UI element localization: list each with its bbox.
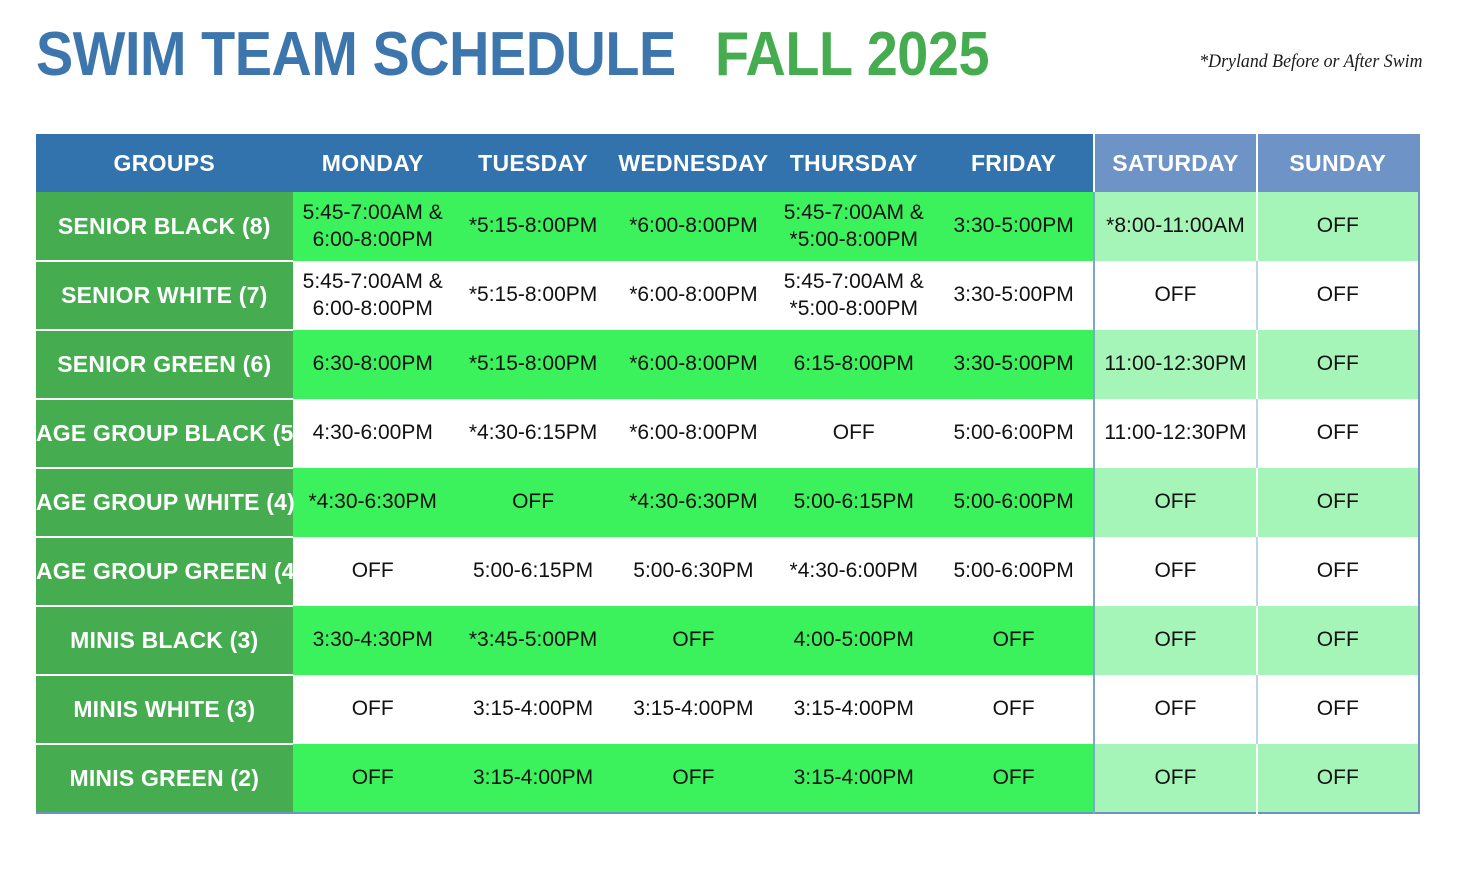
schedule-cell-wednesday: *6:00-8:00PM [613,399,773,468]
table-row: MINIS BLACK (3)3:30-4:30PM*3:45-5:00PMOF… [36,606,1419,675]
table-body: SENIOR BLACK (8)5:45-7:00AM &6:00-8:00PM… [36,192,1419,813]
table-row: MINIS WHITE (3)OFF3:15-4:00PM3:15-4:00PM… [36,675,1419,744]
cell-line: OFF [613,765,773,791]
group-label-cell: AGE GROUP WHITE (4) [36,468,293,537]
cell-line: OFF [1258,351,1418,377]
schedule-cell-friday: 5:00-6:00PM [934,537,1094,606]
cell-line: *4:30-6:30PM [613,489,773,515]
schedule-cell-wednesday: *4:30-6:30PM [613,468,773,537]
cell-line: 3:30-5:00PM [934,282,1093,308]
schedule-cell-saturday: OFF [1094,606,1256,675]
table-row: AGE GROUP GREEN (4)OFF5:00-6:15PM5:00-6:… [36,537,1419,606]
schedule-cell-friday: OFF [934,744,1094,813]
column-header-wednesday: WEDNESDAY [613,134,773,192]
cell-line: OFF [934,765,1093,791]
group-label-cell: MINIS WHITE (3) [36,675,293,744]
table-header: GROUPS MONDAY TUESDAY WEDNESDAY THURSDAY… [36,134,1419,192]
schedule-cell-thursday: 5:45-7:00AM &*5:00-8:00PM [774,261,934,330]
cell-line: 5:00-6:15PM [453,558,613,584]
column-header-sunday: SUNDAY [1257,134,1419,192]
schedule-cell-monday: *4:30-6:30PM [293,468,453,537]
schedule-cell-wednesday: *6:00-8:00PM [613,192,773,261]
schedule-cell-sunday: OFF [1257,606,1419,675]
dryland-note: *Dryland Before or After Swim [1199,51,1422,73]
cell-line: OFF [934,696,1093,722]
schedule-cell-tuesday: *4:30-6:15PM [453,399,613,468]
cell-line: *6:00-8:00PM [613,351,773,377]
cell-line: *5:15-8:00PM [453,282,613,308]
schedule-cell-friday: 3:30-5:00PM [934,330,1094,399]
cell-line: OFF [934,627,1093,653]
schedule-table: GROUPS MONDAY TUESDAY WEDNESDAY THURSDAY… [36,134,1420,814]
cell-line: OFF [1258,282,1418,308]
schedule-cell-wednesday: 3:15-4:00PM [613,675,773,744]
schedule-cell-monday: 5:45-7:00AM &6:00-8:00PM [293,261,453,330]
cell-line: OFF [1258,696,1418,722]
group-label-cell: AGE GROUP BLACK (5) [36,399,293,468]
column-header-thursday: THURSDAY [774,134,934,192]
schedule-cell-monday: 6:30-8:00PM [293,330,453,399]
table-row: SENIOR GREEN (6)6:30-8:00PM*5:15-8:00PM*… [36,330,1419,399]
cell-line: 11:00-12:30PM [1095,420,1255,446]
cell-line: OFF [1258,765,1418,791]
schedule-cell-thursday: 3:15-4:00PM [774,744,934,813]
cell-line: OFF [1095,282,1255,308]
schedule-cell-wednesday: OFF [613,606,773,675]
schedule-cell-tuesday: 3:15-4:00PM [453,675,613,744]
cell-line: OFF [1258,558,1418,584]
cell-line: 6:30-8:00PM [293,351,453,377]
schedule-cell-monday: OFF [293,675,453,744]
cell-line: OFF [1095,765,1255,791]
schedule-cell-tuesday: 3:15-4:00PM [453,744,613,813]
schedule-cell-saturday: OFF [1094,261,1256,330]
group-label-cell: AGE GROUP GREEN (4) [36,537,293,606]
schedule-cell-thursday: 5:45-7:00AM &*5:00-8:00PM [774,192,934,261]
schedule-cell-sunday: OFF [1257,330,1419,399]
schedule-cell-sunday: OFF [1257,744,1419,813]
group-label-cell: MINIS BLACK (3) [36,606,293,675]
cell-line: 3:15-4:00PM [774,765,934,791]
cell-line: *5:15-8:00PM [453,213,613,239]
schedule-cell-monday: 3:30-4:30PM [293,606,453,675]
cell-line: OFF [1095,489,1255,515]
schedule-cell-saturday: OFF [1094,537,1256,606]
schedule-cell-thursday: *4:30-6:00PM [774,537,934,606]
schedule-cell-monday: OFF [293,744,453,813]
column-header-monday: MONDAY [293,134,453,192]
cell-line: 3:30-5:00PM [934,351,1093,377]
cell-line: OFF [293,696,453,722]
cell-line: OFF [453,489,613,515]
schedule-cell-sunday: OFF [1257,537,1419,606]
column-header-groups: GROUPS [36,134,293,192]
cell-line: 11:00-12:30PM [1095,351,1255,377]
cell-line: OFF [1095,558,1255,584]
page-title: SWIM TEAM SCHEDULE [36,24,676,86]
cell-line: 4:00-5:00PM [774,627,934,653]
schedule-cell-sunday: OFF [1257,399,1419,468]
cell-line: 5:00-6:00PM [934,420,1093,446]
schedule-cell-monday: OFF [293,537,453,606]
cell-line: *6:00-8:00PM [613,420,773,446]
cell-line: 5:00-6:00PM [934,558,1093,584]
cell-line: 3:30-5:00PM [934,213,1093,239]
schedule-cell-sunday: OFF [1257,468,1419,537]
schedule-cell-saturday: *8:00-11:00AM [1094,192,1256,261]
schedule-cell-tuesday: *3:45-5:00PM [453,606,613,675]
cell-line: 3:15-4:00PM [453,765,613,791]
page-header: SWIM TEAM SCHEDULE FALL 2025 *Dryland Be… [36,24,1422,116]
schedule-cell-tuesday: *5:15-8:00PM [453,261,613,330]
group-label-cell: SENIOR WHITE (7) [36,261,293,330]
cell-line: OFF [293,765,453,791]
schedule-cell-saturday: OFF [1094,675,1256,744]
cell-line: *6:00-8:00PM [613,213,773,239]
cell-line: OFF [774,420,934,446]
cell-line: 5:00-6:00PM [934,489,1093,515]
schedule-cell-tuesday: OFF [453,468,613,537]
schedule-cell-saturday: OFF [1094,468,1256,537]
cell-line: 3:15-4:00PM [774,696,934,722]
schedule-cell-friday: OFF [934,675,1094,744]
header-row: GROUPS MONDAY TUESDAY WEDNESDAY THURSDAY… [36,134,1419,192]
schedule-cell-saturday: OFF [1094,744,1256,813]
page-title-season: FALL 2025 [715,24,989,86]
schedule-cell-thursday: 5:00-6:15PM [774,468,934,537]
table-row: SENIOR BLACK (8)5:45-7:00AM &6:00-8:00PM… [36,192,1419,261]
cell-line: OFF [1258,213,1418,239]
cell-line: 5:45-7:00AM & [293,269,453,295]
cell-line: *5:00-8:00PM [774,227,934,253]
cell-line: 5:45-7:00AM & [774,200,934,226]
cell-line: *6:00-8:00PM [613,282,773,308]
schedule-cell-saturday: 11:00-12:30PM [1094,330,1256,399]
cell-line: OFF [1258,627,1418,653]
table-row: AGE GROUP WHITE (4)*4:30-6:30PMOFF*4:30-… [36,468,1419,537]
cell-line: 3:30-4:30PM [293,627,453,653]
cell-line: 3:15-4:00PM [613,696,773,722]
cell-line: 3:15-4:00PM [453,696,613,722]
schedule-cell-wednesday: *6:00-8:00PM [613,330,773,399]
group-label-cell: SENIOR BLACK (8) [36,192,293,261]
cell-line: *3:45-5:00PM [453,627,613,653]
cell-line: 5:00-6:30PM [613,558,773,584]
schedule-cell-thursday: 6:15-8:00PM [774,330,934,399]
schedule-cell-sunday: OFF [1257,192,1419,261]
cell-line: *4:30-6:15PM [453,420,613,446]
cell-line: OFF [293,558,453,584]
schedule-cell-tuesday: *5:15-8:00PM [453,192,613,261]
schedule-cell-friday: 3:30-5:00PM [934,261,1094,330]
schedule-cell-monday: 5:45-7:00AM &6:00-8:00PM [293,192,453,261]
cell-line: *4:30-6:30PM [293,489,453,515]
group-label-cell: SENIOR GREEN (6) [36,330,293,399]
table-row: MINIS GREEN (2)OFF3:15-4:00PMOFF3:15-4:0… [36,744,1419,813]
column-header-tuesday: TUESDAY [453,134,613,192]
schedule-page: SWIM TEAM SCHEDULE FALL 2025 *Dryland Be… [0,0,1458,888]
cell-line: *4:30-6:00PM [774,558,934,584]
cell-line: 5:45-7:00AM & [774,269,934,295]
schedule-cell-wednesday: OFF [613,744,773,813]
schedule-cell-saturday: 11:00-12:30PM [1094,399,1256,468]
schedule-cell-tuesday: 5:00-6:15PM [453,537,613,606]
cell-line: 6:00-8:00PM [293,296,453,322]
cell-line: OFF [1095,627,1255,653]
group-label-cell: MINIS GREEN (2) [36,744,293,813]
schedule-cell-sunday: OFF [1257,675,1419,744]
cell-line: OFF [1095,696,1255,722]
schedule-cell-wednesday: 5:00-6:30PM [613,537,773,606]
cell-line: *5:15-8:00PM [453,351,613,377]
schedule-cell-thursday: OFF [774,399,934,468]
schedule-cell-friday: 3:30-5:00PM [934,192,1094,261]
column-header-saturday: SATURDAY [1094,134,1256,192]
cell-line: *8:00-11:00AM [1095,213,1255,239]
schedule-cell-tuesday: *5:15-8:00PM [453,330,613,399]
cell-line: 6:15-8:00PM [774,351,934,377]
schedule-cell-thursday: 4:00-5:00PM [774,606,934,675]
cell-line: 6:00-8:00PM [293,227,453,253]
column-header-friday: FRIDAY [934,134,1094,192]
schedule-cell-friday: 5:00-6:00PM [934,468,1094,537]
schedule-cell-friday: OFF [934,606,1094,675]
schedule-cell-friday: 5:00-6:00PM [934,399,1094,468]
cell-line: 4:30-6:00PM [293,420,453,446]
cell-line: OFF [1258,420,1418,446]
schedule-cell-thursday: 3:15-4:00PM [774,675,934,744]
cell-line: *5:00-8:00PM [774,296,934,322]
cell-line: 5:00-6:15PM [774,489,934,515]
cell-line: OFF [1258,489,1418,515]
schedule-cell-wednesday: *6:00-8:00PM [613,261,773,330]
cell-line: OFF [613,627,773,653]
schedule-cell-monday: 4:30-6:00PM [293,399,453,468]
cell-line: 5:45-7:00AM & [293,200,453,226]
table-row: AGE GROUP BLACK (5)4:30-6:00PM*4:30-6:15… [36,399,1419,468]
table-row: SENIOR WHITE (7)5:45-7:00AM &6:00-8:00PM… [36,261,1419,330]
schedule-cell-sunday: OFF [1257,261,1419,330]
